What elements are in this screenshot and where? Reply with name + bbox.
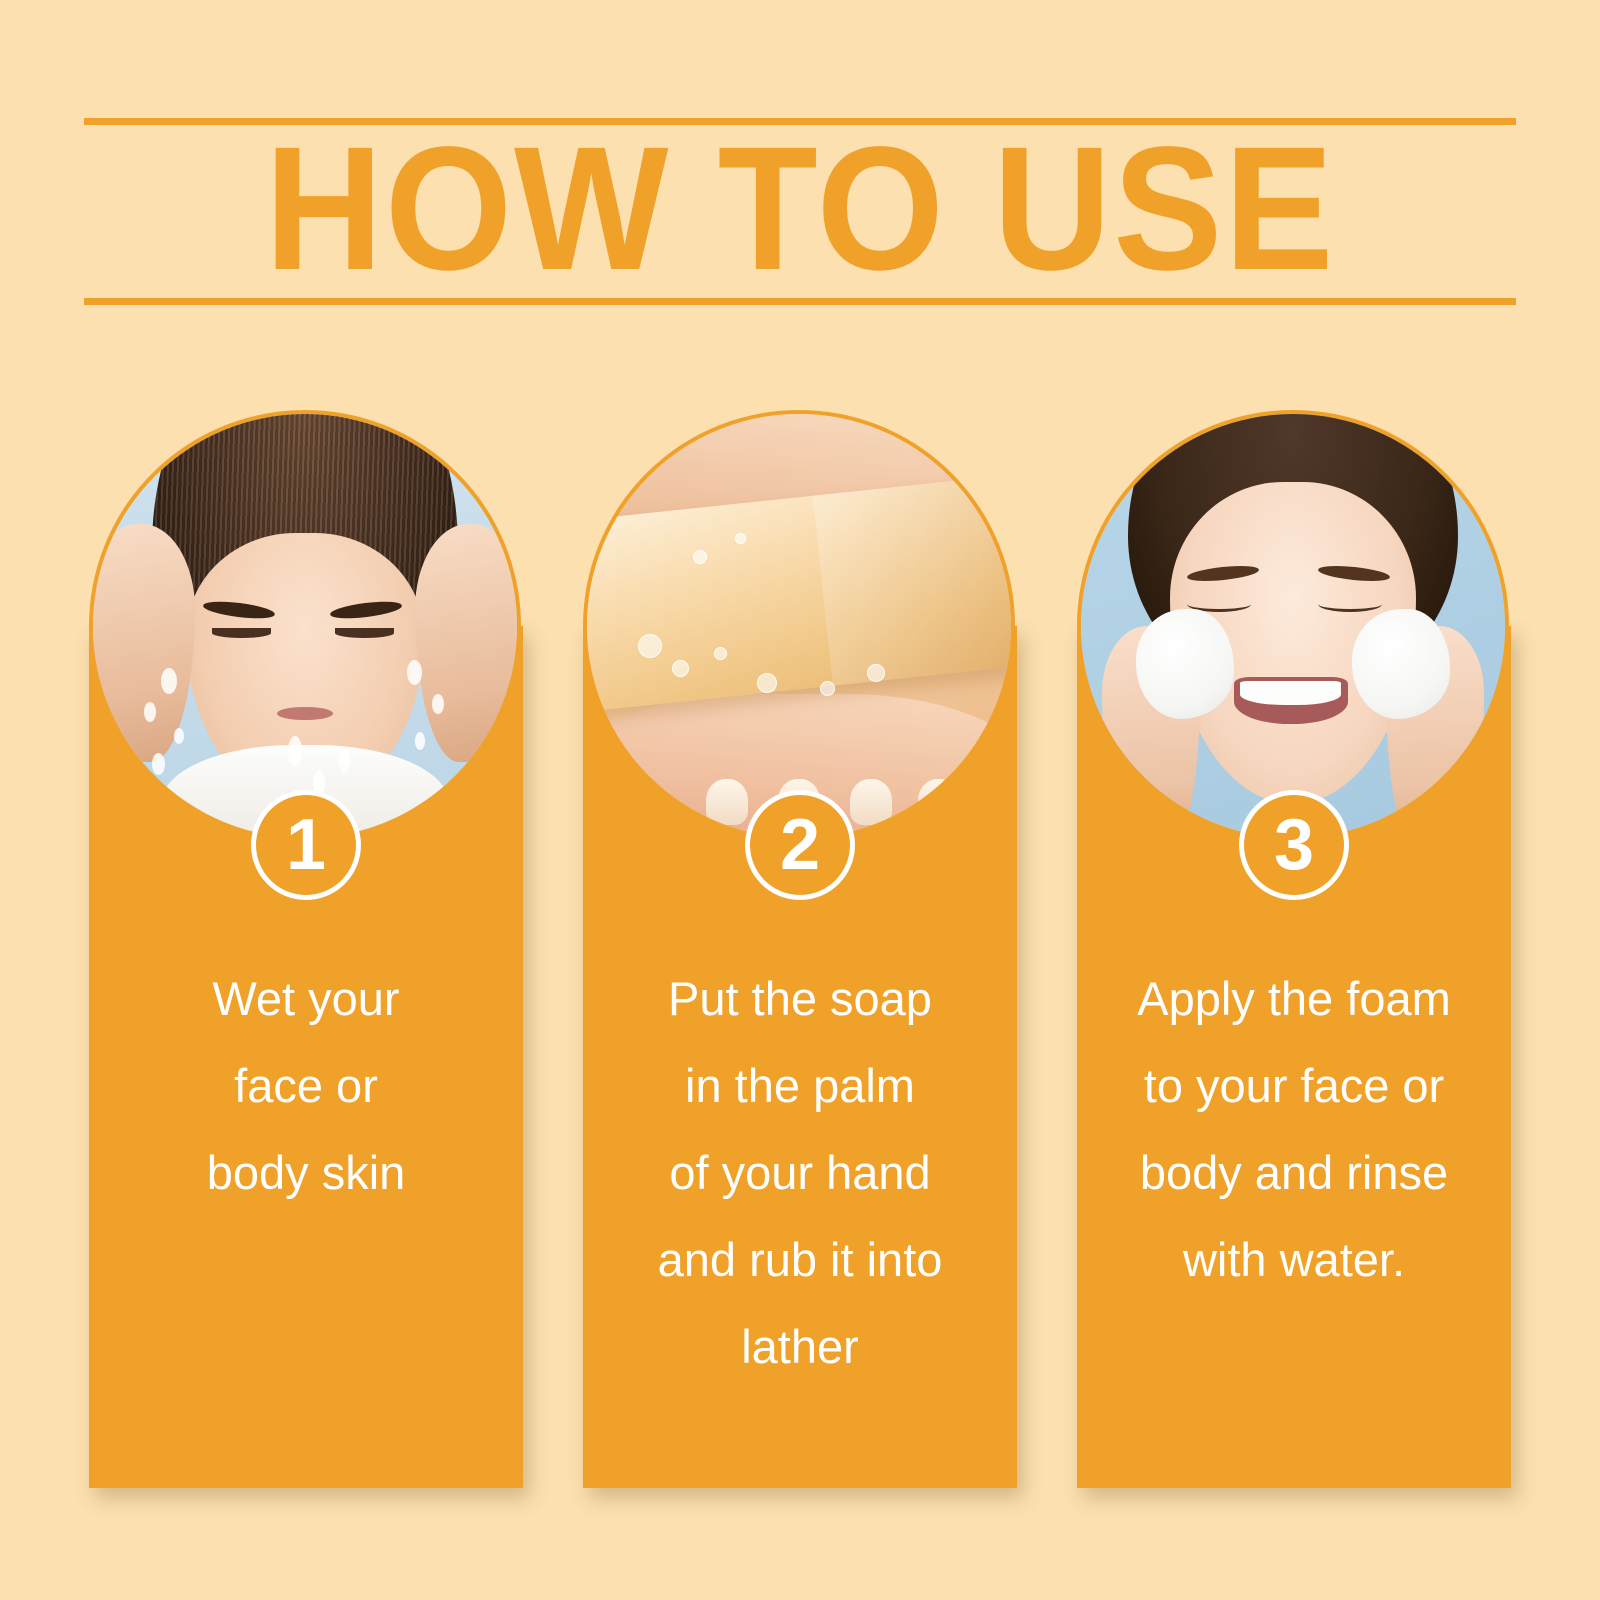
steps-row: 1 Wet your face or body skin: [89, 410, 1511, 1500]
step-2-caption: Put the soap in the palm of your hand an…: [595, 955, 1005, 1390]
step-2-number-badge: 2: [745, 790, 855, 900]
title-rule-bottom: [84, 298, 1516, 305]
step-2-photo: [583, 410, 1015, 842]
header: HOW TO USE: [84, 110, 1516, 310]
step-1-number-badge: 1: [251, 790, 361, 900]
step-card-1: 1 Wet your face or body skin: [89, 410, 523, 1488]
step-card-3: 3 Apply the foam to your face or body an…: [1077, 410, 1511, 1488]
step-1-photo: [89, 410, 521, 842]
step-1-caption: Wet your face or body skin: [101, 955, 511, 1216]
page-title: HOW TO USE: [134, 120, 1466, 298]
step-3-photo: [1077, 410, 1509, 842]
step-3-number-badge: 3: [1239, 790, 1349, 900]
step-3-caption: Apply the foam to your face or body and …: [1089, 955, 1499, 1303]
step-card-2: 2 Put the soap in the palm of your hand …: [583, 410, 1017, 1488]
